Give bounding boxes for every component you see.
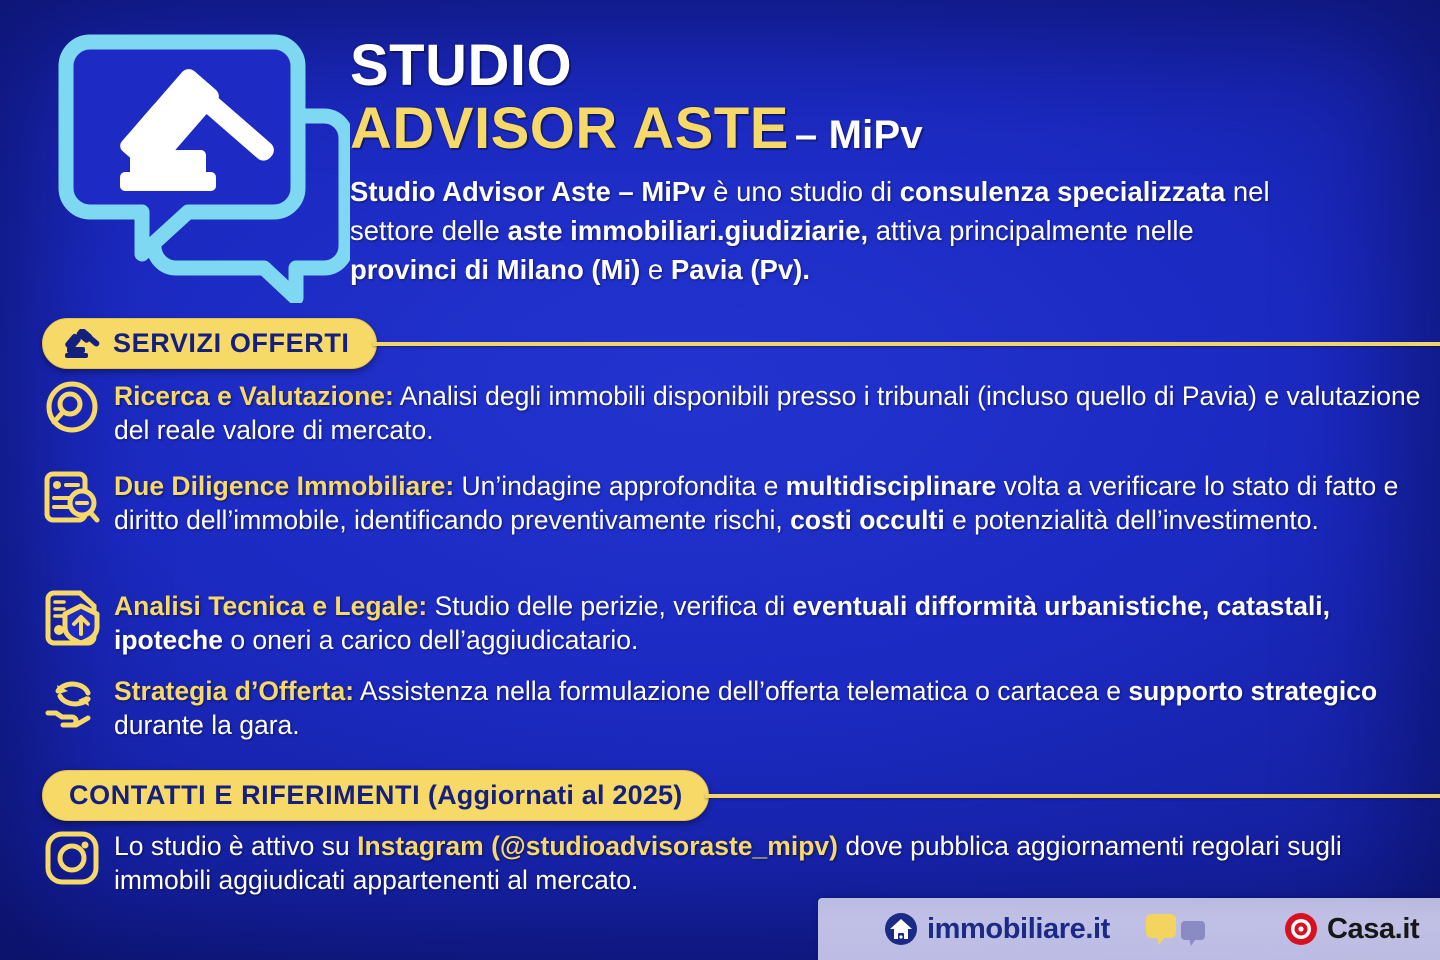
header: STUDIO ADVISOR ASTE– MiPv Studio Advisor… [0, 22, 1440, 303]
service-text-analisi: Analisi Tecnica e Legale: Studio delle p… [114, 588, 1424, 658]
service-item-analisi-tecnica: Analisi Tecnica e Legale: Studio delle p… [44, 588, 1424, 658]
service-body-strategia-1: Assistenza nella formulazione dell’offer… [354, 676, 1128, 706]
intro-text-3: attiva principalmente [868, 215, 1128, 246]
badge-contatti-label-year: (Aggiornati al 2025) [420, 780, 682, 810]
casa-target-icon [1284, 912, 1318, 946]
service-body-analisi-2: o oneri a carico dell’aggiudicatario. [223, 625, 638, 655]
service-text-ricerca: Ricerca e Valutazione: Analisi degli imm… [114, 378, 1424, 448]
service-text-due-diligence: Due Diligence Immobiliare: Un’indagine a… [114, 468, 1424, 538]
footer-partner-bar: immobiliare.it Casa.it [818, 898, 1440, 960]
contact-item-instagram: Lo studio è attivo su Instagram (@studio… [44, 828, 1424, 898]
section-divider-servizi [373, 342, 1440, 346]
instagram-handle[interactable]: Instagram (@studioadvisoraste_mipv) [357, 831, 838, 861]
intro-text-1: è uno studio di [706, 176, 900, 207]
section-header-servizi: SERVIZI OFFERTI [0, 318, 1440, 369]
service-item-ricerca-valutazione: Ricerca e Valutazione: Analisi degli imm… [44, 378, 1424, 448]
intro-emphasis-2: aste immobiliari.giudiziarie, [507, 215, 868, 246]
service-body-strategia-bold: supporto strategico [1128, 676, 1377, 706]
service-head-analisi: Analisi Tecnica e Legale: [114, 591, 427, 621]
magnifier-circle-icon [44, 380, 100, 436]
contact-text-1: Lo studio è attivo su [114, 831, 357, 861]
service-body-dd-bold-1: multidisciplinare [786, 471, 997, 501]
service-item-strategia-offerta: Strategia d’Offerta: Assistenza nella fo… [44, 673, 1424, 743]
page-title-suffix: – MiPv [795, 113, 923, 157]
service-body-ricerca-1: Analisi degli immobili disponibili press… [394, 381, 1257, 411]
service-head-due-diligence: Due Diligence Immobiliare: [114, 471, 454, 501]
document-house-shield-icon [44, 590, 100, 646]
instagram-icon[interactable] [44, 830, 100, 886]
brand-casa[interactable]: Casa.it [1284, 912, 1419, 946]
page-title-main: ADVISOR ASTE [350, 96, 789, 161]
intro-text-5: e [640, 254, 671, 285]
intro-paragraph: Studio Advisor Aste – MiPv è uno studio … [350, 172, 1295, 289]
hand-arrows-icon [44, 675, 100, 731]
service-body-dd-1: Un’indagine approfondita e [454, 471, 786, 501]
immobiliare-house-icon [884, 912, 918, 946]
gavel-icon [65, 329, 101, 359]
map-pin-pair-icon [1144, 910, 1208, 948]
service-body-dd-bold-2: costi occulti [790, 505, 945, 535]
contact-text-2: dove pubblica aggiornamenti regolari [838, 831, 1280, 861]
section-divider-contatti [705, 794, 1440, 798]
service-body-analisi-bold-1: eventuali difformità urbanistiche, [793, 591, 1210, 621]
badge-contatti-label-main: CONTATTI E RIFERIMENTI [69, 780, 420, 810]
badge-contatti-label: CONTATTI E RIFERIMENTI (Aggiornati al 20… [69, 780, 682, 811]
intro-text-4: nelle [1136, 215, 1194, 246]
badge-contatti-riferimenti[interactable]: CONTATTI E RIFERIMENTI (Aggiornati al 20… [42, 770, 709, 821]
page-title-line1: STUDIO [350, 36, 1295, 95]
page-title-line2: ADVISOR ASTE– MiPv [350, 99, 1295, 158]
poster-canvas: STUDIO ADVISOR ASTE– MiPv Studio Advisor… [0, 0, 1440, 960]
service-head-ricerca: Ricerca e Valutazione: [114, 381, 394, 411]
service-head-strategia: Strategia d’Offerta: [114, 676, 354, 706]
badge-servizi-label: SERVIZI OFFERTI [113, 328, 350, 359]
gavel-speech-bubble-logo [58, 28, 350, 303]
section-header-contatti: CONTATTI E RIFERIMENTI (Aggiornati al 20… [0, 770, 1440, 821]
brand-immobiliare[interactable]: immobiliare.it [884, 912, 1110, 946]
service-text-strategia: Strategia d’Offerta: Assistenza nella fo… [114, 673, 1424, 743]
service-body-analisi-1: Studio delle perizie, verifica di [427, 591, 792, 621]
intro-brand: Studio Advisor Aste – MiPv [350, 176, 706, 207]
document-magnifier-icon [44, 470, 100, 526]
intro-emphasis-3: provinci di Milano (Mi) [350, 254, 640, 285]
service-item-due-diligence: Due Diligence Immobiliare: Un’indagine a… [44, 468, 1424, 538]
intro-emphasis-4: Pavia (Pv). [671, 254, 810, 285]
intro-emphasis-1: consulenza specializzata [900, 176, 1226, 207]
brand-immobiliare-label: immobiliare.it [927, 913, 1110, 946]
service-body-dd-3: potenzialità dell’investimento. [974, 505, 1319, 535]
badge-servizi-offerti[interactable]: SERVIZI OFFERTI [42, 318, 377, 369]
service-body-dd-1end: volta a verificare [996, 471, 1196, 501]
contact-text-instagram: Lo studio è attivo su Instagram (@studio… [114, 828, 1424, 898]
service-body-dd-2end: e [945, 505, 967, 535]
brand-casa-label: Casa.it [1327, 913, 1419, 946]
header-text-block: STUDIO ADVISOR ASTE– MiPv Studio Advisor… [350, 22, 1335, 289]
service-body-strategia-2: durante la gara. [114, 710, 300, 740]
